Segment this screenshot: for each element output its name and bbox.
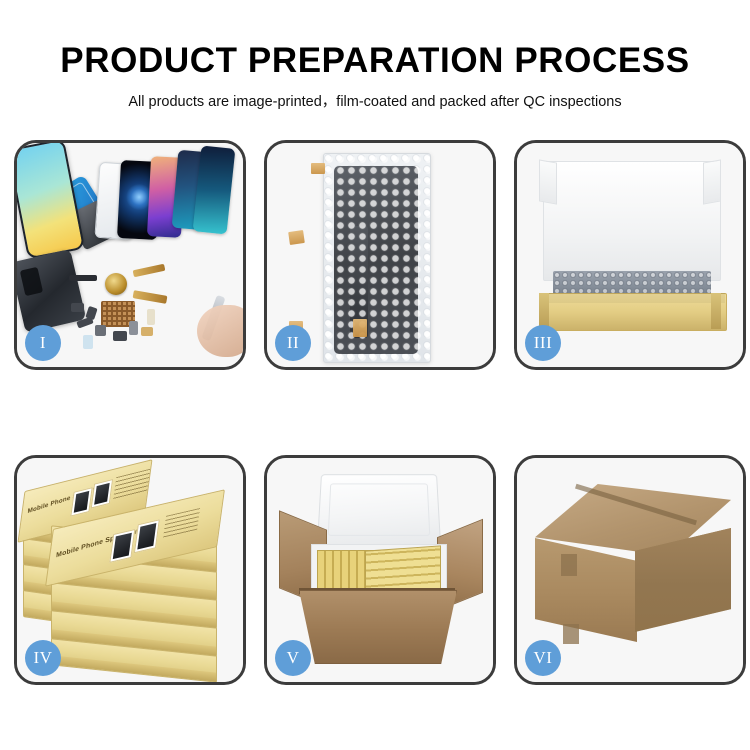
label-spec-lines xyxy=(113,469,150,500)
step-badge-4: IV xyxy=(25,640,61,676)
lid-flap-right xyxy=(703,159,721,204)
step-badge-5: V xyxy=(275,640,311,676)
small-component xyxy=(129,321,138,335)
small-component xyxy=(113,331,127,341)
page-title: PRODUCT PREPARATION PROCESS xyxy=(0,40,750,82)
step-badge-3: III xyxy=(525,325,561,361)
white-foam-lid xyxy=(317,474,441,546)
carton-left-face xyxy=(535,538,637,642)
front-phone-display xyxy=(14,140,85,260)
process-step-grid: I II xyxy=(14,140,736,685)
speaker-part xyxy=(69,275,97,281)
label-window xyxy=(70,487,92,517)
copper-coil-part xyxy=(105,273,127,295)
wrapped-lcd-panel xyxy=(334,166,418,354)
carton-tape-patch xyxy=(561,554,577,576)
header: PRODUCT PREPARATION PROCESS All products… xyxy=(0,40,750,112)
process-step-card-5[interactable]: V xyxy=(264,455,496,685)
flex-cable-part xyxy=(133,264,166,278)
process-step-card-6[interactable]: VI xyxy=(514,455,746,685)
small-component xyxy=(147,309,155,325)
process-step-card-2[interactable]: II xyxy=(264,140,496,370)
bubble-wrap-package xyxy=(323,153,431,363)
small-component xyxy=(71,303,84,312)
technician-hand xyxy=(197,305,246,357)
box-edge-left xyxy=(539,293,549,329)
carton-tape-patch xyxy=(563,624,579,644)
tape-strip xyxy=(288,230,305,245)
step-badge-1: I xyxy=(25,325,61,361)
process-step-card-4[interactable]: Mobile Phone Spare Parts Mobile Phone Sp… xyxy=(14,455,246,685)
tape-strip xyxy=(353,319,367,337)
tape-strip xyxy=(311,163,325,174)
small-component xyxy=(83,335,93,349)
label-spec-lines xyxy=(163,508,200,539)
process-step-card-1[interactable]: I xyxy=(14,140,246,370)
phone-back-shell xyxy=(14,249,86,333)
small-component xyxy=(141,327,153,336)
process-step-card-3[interactable]: III xyxy=(514,140,746,370)
box-edge-right xyxy=(711,293,721,329)
label-window xyxy=(91,479,113,509)
box-front-shadow xyxy=(539,293,725,303)
step-badge-2: II xyxy=(275,325,311,361)
label-window xyxy=(109,529,135,563)
label-window xyxy=(134,519,160,553)
carton-front-face xyxy=(299,590,457,664)
step-badge-6: VI xyxy=(525,640,561,676)
white-box-lid xyxy=(543,161,721,281)
flex-cable-part xyxy=(133,290,168,304)
product-preparation-infographic: PRODUCT PREPARATION PROCESS All products… xyxy=(0,0,750,750)
page-subtitle: All products are image-printed，film-coat… xyxy=(0,92,750,112)
small-component xyxy=(95,325,106,336)
lid-flap-left xyxy=(539,159,557,204)
